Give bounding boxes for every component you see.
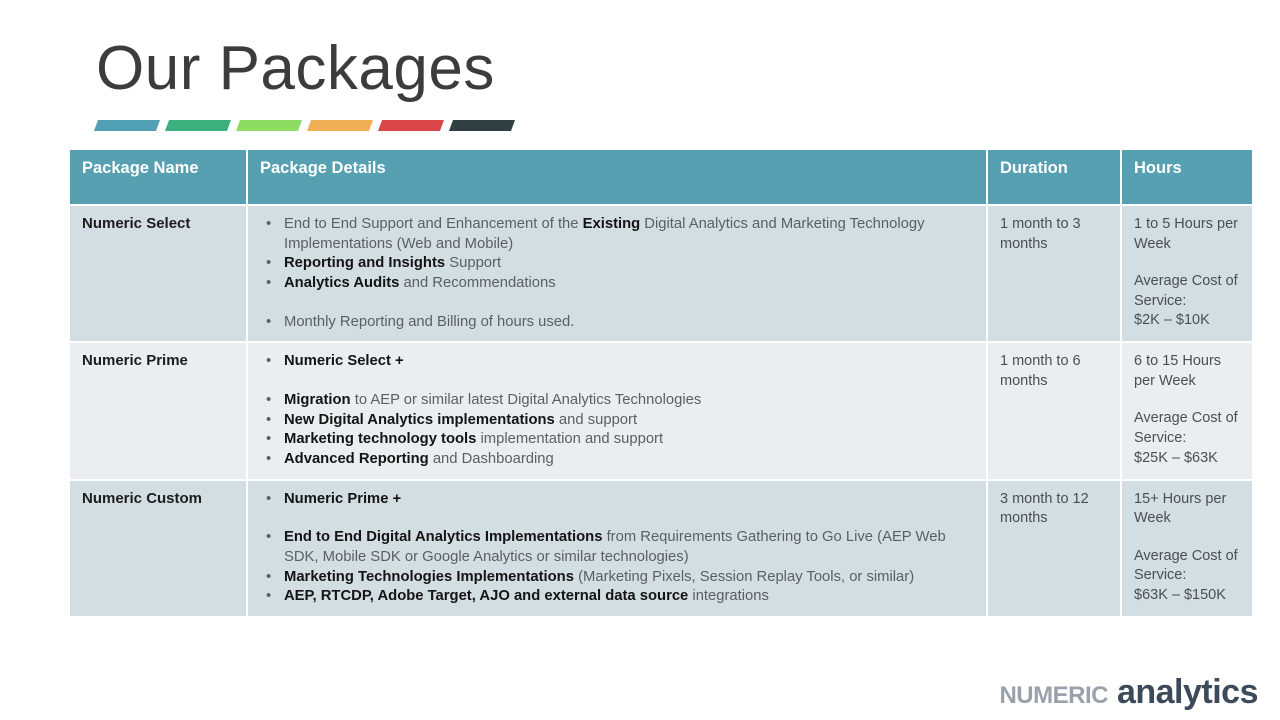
average-cost-label: Average Cost of Service: (1134, 409, 1242, 448)
cell-hours: 6 to 15 Hours per WeekAverage Cost of Se… (1122, 343, 1252, 480)
accent-bar-orange (307, 120, 373, 131)
table-body: Numeric SelectEnd to End Support and Enh… (70, 206, 1252, 618)
average-cost-value: $63K – $150K (1134, 586, 1242, 606)
accent-bar-teal (94, 120, 160, 131)
package-detail-item: Reporting and Insights Support (260, 254, 976, 274)
package-detail-item: Marketing Technologies Implementations (… (260, 568, 976, 588)
hours-per-week-text: 1 to 5 Hours per Week (1134, 215, 1242, 254)
brand-logo: numeric analytics (999, 673, 1258, 712)
page-title: Our Packages (96, 36, 495, 101)
package-detail-item: Numeric Select + (260, 352, 976, 372)
column-header-package-details: Package Details (248, 150, 988, 206)
average-cost-block: Average Cost of Service:$63K – $150K (1134, 547, 1242, 606)
package-detail-list: Numeric Select +Migration to AEP or simi… (260, 352, 976, 469)
average-cost-block: Average Cost of Service:$25K – $63K (1134, 409, 1242, 468)
table-header: Package Name Package Details Duration Ho… (70, 150, 1252, 206)
table-header-row: Package Name Package Details Duration Ho… (70, 150, 1252, 206)
accent-bar-dark (449, 120, 515, 131)
table-row: Numeric CustomNumeric Prime +End to End … (70, 481, 1252, 618)
column-header-duration: Duration (988, 150, 1122, 206)
packages-table: Package Name Package Details Duration Ho… (70, 150, 1252, 618)
cell-package-name: Numeric Custom (70, 481, 248, 618)
accent-bar-red (378, 120, 444, 131)
cell-package-details: Numeric Prime +End to End Digital Analyt… (248, 481, 988, 618)
column-header-hours: Hours (1122, 150, 1252, 206)
cell-duration: 1 month to 6 months (988, 343, 1122, 480)
package-detail-item: End to End Support and Enhancement of th… (260, 215, 976, 254)
cell-duration: 3 month to 12 months (988, 481, 1122, 618)
accent-bar-group (96, 120, 513, 131)
package-detail-item: Migration to AEP or similar latest Digit… (260, 391, 976, 411)
logo-word-numeric: numeric (999, 673, 1108, 712)
average-cost-block: Average Cost of Service:$2K – $10K (1134, 272, 1242, 331)
package-detail-item: End to End Digital Analytics Implementat… (260, 528, 976, 567)
hours-per-week-text: 15+ Hours per Week (1134, 490, 1242, 529)
cell-package-name: Numeric Select (70, 206, 248, 343)
table-row: Numeric SelectEnd to End Support and Enh… (70, 206, 1252, 343)
cell-hours: 1 to 5 Hours per WeekAverage Cost of Ser… (1122, 206, 1252, 343)
package-detail-list: End to End Support and Enhancement of th… (260, 215, 976, 332)
package-detail-item: Marketing technology tools implementatio… (260, 430, 976, 450)
hours-per-week-text: 6 to 15 Hours per Week (1134, 352, 1242, 391)
cell-package-name: Numeric Prime (70, 343, 248, 480)
average-cost-value: $25K – $63K (1134, 449, 1242, 469)
accent-bar-green (165, 120, 231, 131)
column-header-package-name: Package Name (70, 150, 248, 206)
package-detail-item: Numeric Prime + (260, 490, 976, 510)
package-detail-item: New Digital Analytics implementations an… (260, 411, 976, 431)
accent-bar-lime (236, 120, 302, 131)
cell-package-details: End to End Support and Enhancement of th… (248, 206, 988, 343)
average-cost-value: $2K – $10K (1134, 311, 1242, 331)
average-cost-label: Average Cost of Service: (1134, 272, 1242, 311)
package-detail-item: Analytics Audits and Recommendations (260, 274, 976, 294)
package-detail-item: Advanced Reporting and Dashboarding (260, 450, 976, 470)
cell-hours: 15+ Hours per WeekAverage Cost of Servic… (1122, 481, 1252, 618)
table-row: Numeric PrimeNumeric Select +Migration t… (70, 343, 1252, 480)
package-detail-item: AEP, RTCDP, Adobe Target, AJO and extern… (260, 587, 976, 607)
cell-duration: 1 month to 3 months (988, 206, 1122, 343)
logo-word-analytics: analytics (1117, 673, 1258, 712)
package-detail-list: Numeric Prime +End to End Digital Analyt… (260, 490, 976, 607)
average-cost-label: Average Cost of Service: (1134, 547, 1242, 586)
package-detail-item: Monthly Reporting and Billing of hours u… (260, 313, 976, 333)
cell-package-details: Numeric Select +Migration to AEP or simi… (248, 343, 988, 480)
